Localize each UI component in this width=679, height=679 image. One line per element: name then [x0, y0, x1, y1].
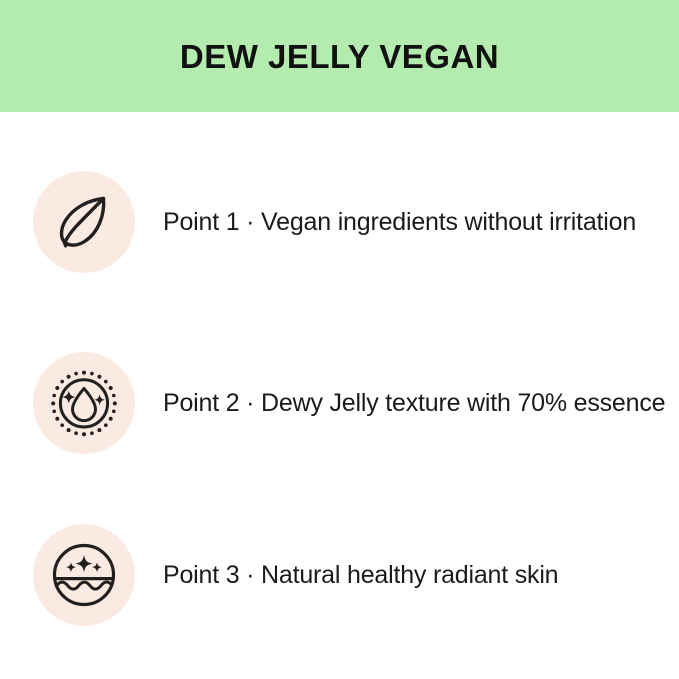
points-list: Point 1 · Vegan ingredients without irri… — [0, 112, 679, 679]
list-item: Point 1 · Vegan ingredients without irri… — [0, 171, 679, 273]
point-text-2: Point 2 · Dewy Jelly texture with 70% es… — [163, 388, 665, 418]
radiant-skin-icon — [50, 541, 118, 609]
water-drop-sparkle-icon — [49, 368, 119, 438]
list-item: Point 2 · Dewy Jelly texture with 70% es… — [0, 352, 679, 454]
header-band: DEW JELLY VEGAN — [0, 0, 679, 112]
point-text-3: Point 3 · Natural healthy radiant skin — [163, 560, 558, 590]
icon-badge-1 — [33, 171, 135, 273]
icon-badge-3 — [33, 524, 135, 626]
list-item: Point 3 · Natural healthy radiant skin — [0, 524, 679, 626]
icon-badge-2 — [33, 352, 135, 454]
leaf-icon — [51, 189, 117, 255]
page-title: DEW JELLY VEGAN — [180, 40, 499, 73]
point-text-1: Point 1 · Vegan ingredients without irri… — [163, 207, 636, 237]
product-feature-card: DEW JELLY VEGAN Point 1 · Vegan ingredie… — [0, 0, 679, 679]
